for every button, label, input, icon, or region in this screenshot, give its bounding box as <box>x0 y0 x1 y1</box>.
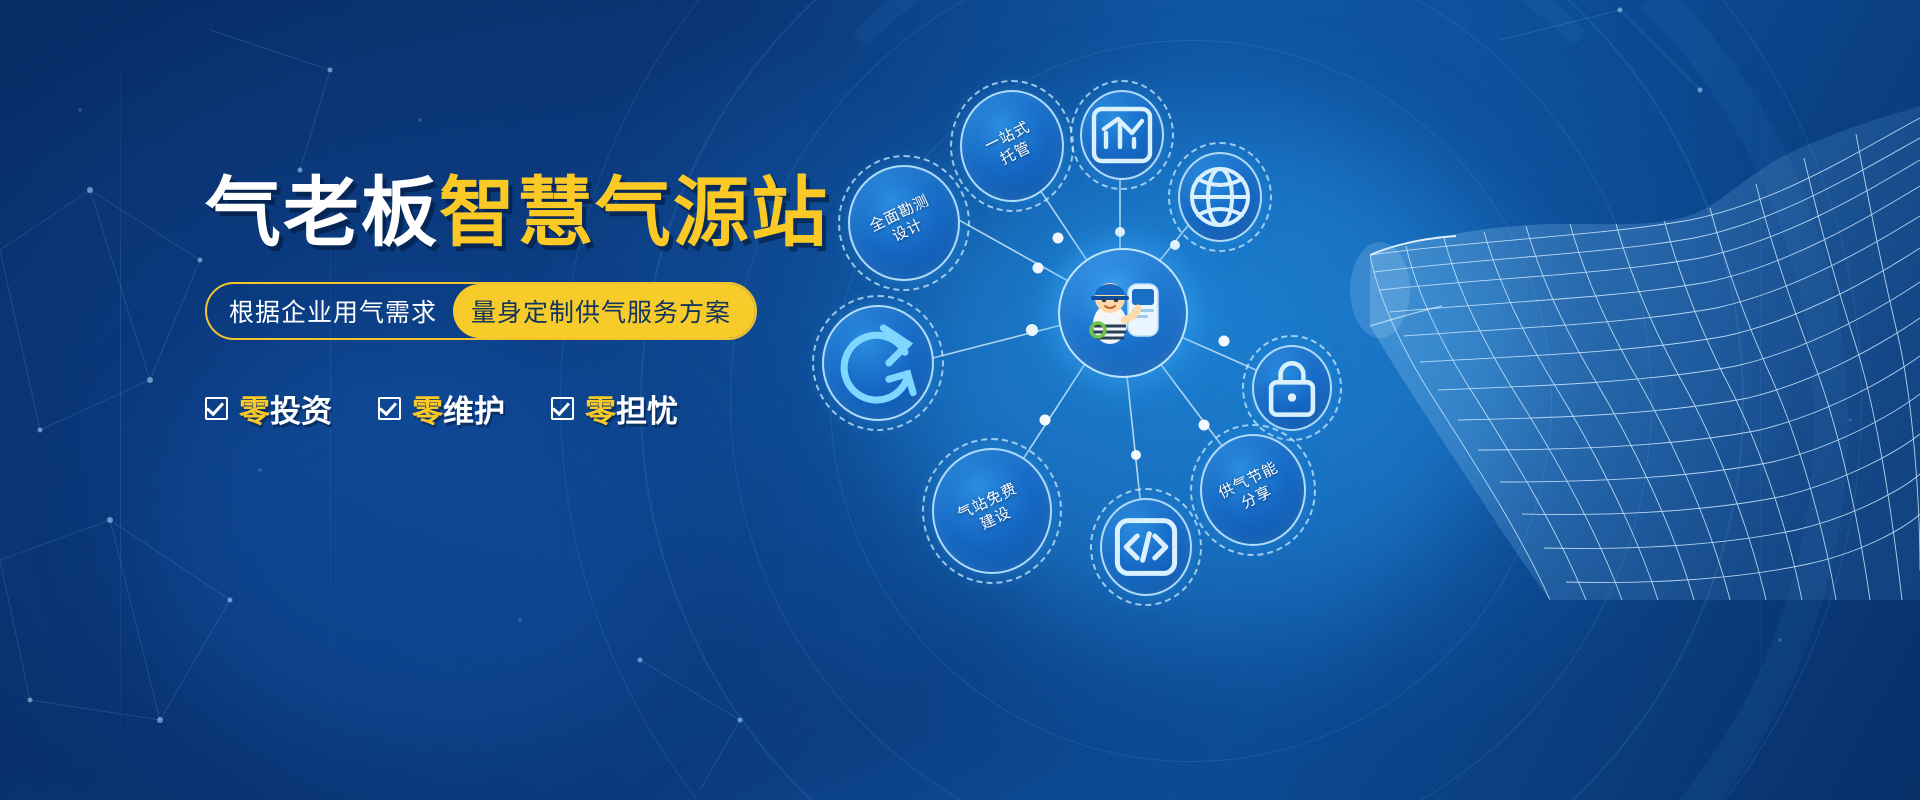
node-chart-icon[interactable] <box>1080 90 1164 180</box>
mascot-icon <box>1076 264 1172 360</box>
checkbox-checked-icon <box>205 397 228 420</box>
globe-icon <box>1200 177 1240 217</box>
subtitle-pill: 根据企业用气需求 量身定制供气服务方案 <box>205 282 757 340</box>
code-brackets-icon <box>1127 528 1165 566</box>
service-network-diagram: 一站式托管 <box>800 0 1440 800</box>
bar-chart-icon <box>1102 115 1142 155</box>
feature-item-zero-maintenance: 零维护 <box>378 386 505 431</box>
headline-brand: 气老板 <box>205 171 439 256</box>
subtitle-right-text: 量身定制供气服务方案 <box>453 284 755 338</box>
grid-line-1 <box>120 0 121 800</box>
feature-label: 零担忧 <box>585 386 678 431</box>
node-one-stop-hosting[interactable]: 一站式托管 <box>960 90 1064 202</box>
banner-root: 气老板智慧气源站 根据企业用气需求 量身定制供气服务方案 零投资 零维护 零担忧 <box>0 0 1920 800</box>
grid-line-3 <box>1760 0 1761 800</box>
node-energy-saving-share[interactable]: 供气节能分享 <box>1200 434 1306 546</box>
node-full-survey-design[interactable]: 全面勘测设计 <box>848 165 960 281</box>
feature-label: 零维护 <box>412 386 505 431</box>
headline-product: 智慧气源站 <box>439 171 829 256</box>
node-free-station-build[interactable]: 气站免费建设 <box>932 448 1052 574</box>
node-refresh-icon[interactable] <box>822 305 934 421</box>
subtitle-left-text: 根据企业用气需求 <box>207 284 453 338</box>
lock-icon <box>1275 371 1309 405</box>
checkbox-checked-icon <box>378 397 401 420</box>
checkbox-checked-icon <box>551 397 574 420</box>
node-lock-icon[interactable] <box>1252 345 1332 431</box>
feature-label: 零投资 <box>239 386 332 431</box>
feature-item-zero-worry: 零担忧 <box>551 386 678 431</box>
mascot-hub[interactable] <box>1058 248 1188 378</box>
feature-item-zero-investment: 零投资 <box>205 386 332 431</box>
node-globe-icon[interactable] <box>1178 152 1262 242</box>
node-code-icon[interactable] <box>1100 498 1192 596</box>
refresh-cycle-icon <box>853 338 903 388</box>
